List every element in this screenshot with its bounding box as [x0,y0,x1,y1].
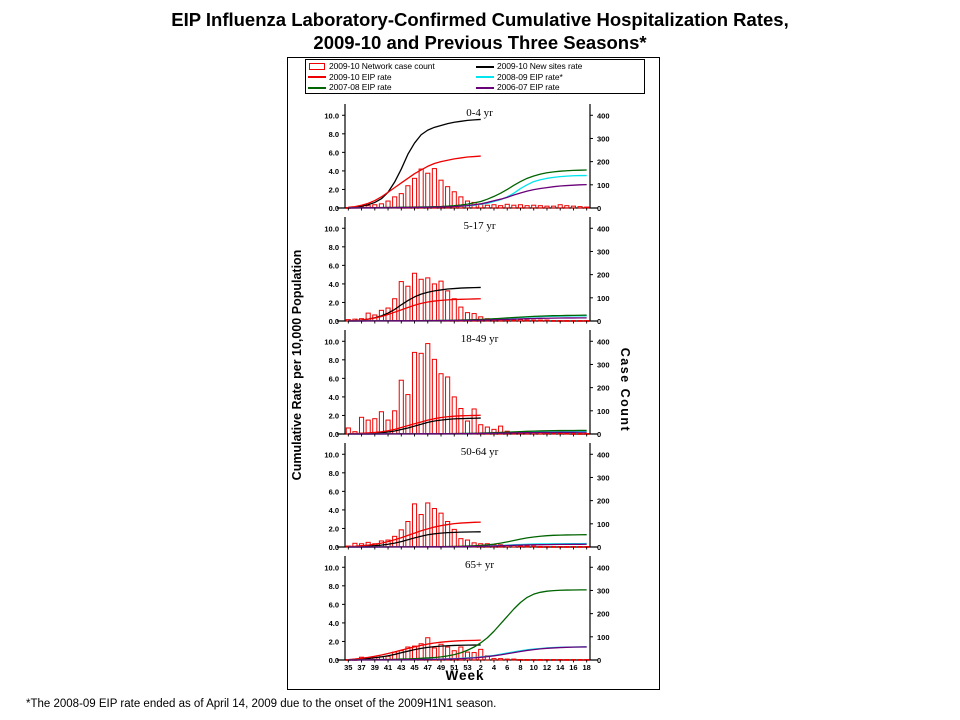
case-count-bar [512,205,516,208]
y-tick-label-right: 400 [597,450,610,459]
case-count-bar [379,412,383,434]
case-count-bar [512,320,516,321]
x-tick-label: 47 [424,663,432,670]
case-count-bar [532,205,536,208]
case-count-bar [419,279,423,321]
x-tick-label: 49 [437,663,445,670]
legend-label: 2009-10 Network case count [329,61,435,71]
y-tick-label-right: 400 [597,337,610,346]
legend-item: 2009-10 EIP rate [308,72,474,83]
case-count-bar [393,536,397,547]
legend-swatch-icon [308,83,326,92]
legend-item: 2007-08 EIP rate [308,82,474,93]
y-tick-label-left: 10.0 [324,450,339,459]
case-count-bar [426,278,430,321]
series-line-2006-07-eip-rate [348,647,586,660]
case-count-bar [578,207,582,208]
y-tick-label-right: 100 [597,633,610,642]
case-count-bar [499,206,503,208]
y-tick-label-right: 200 [597,158,610,167]
x-tick-label: 12 [543,663,551,670]
panel-0-4-yr: 0.02.04.06.08.010.001002003004000-4 yr [300,100,640,218]
case-count-bar [565,321,569,322]
y-tick-label-right: 300 [597,360,610,369]
y-tick-label-right: 400 [597,224,610,233]
panel-plot: 0.02.04.06.08.010.0010020030040065+ yr35… [300,552,640,670]
case-count-bar [412,352,416,434]
y-tick-label-left: 8.0 [329,356,339,365]
x-tick-label: 35 [344,663,352,670]
case-count-bar [412,504,416,547]
case-count-bar [565,206,569,208]
case-count-bar [578,547,582,548]
page-title: EIP Influenza Laboratory-Confirmed Cumul… [0,8,960,54]
case-count-bar [585,207,589,208]
y-tick-label-right: 400 [597,563,610,572]
y-tick-label-left: 8.0 [329,130,339,139]
y-tick-label-left: 6.0 [329,374,339,383]
y-tick-label-right: 200 [597,384,610,393]
y-tick-label-right: 300 [597,473,610,482]
case-count-bar [499,659,503,660]
case-count-bar [545,206,549,208]
case-count-bar [552,547,556,548]
y-tick-label-left: 8.0 [329,582,339,591]
case-count-bar [578,321,582,322]
case-count-bar [552,206,556,208]
case-count-bar [406,286,410,321]
y-tick-label-left: 10.0 [324,111,339,120]
y-tick-label-right: 200 [597,271,610,280]
case-count-bar [538,320,542,321]
legend-item: 2009-10 Network case count [308,61,474,72]
legend-label: 2009-10 EIP rate [329,72,392,82]
y-tick-label-left: 8.0 [329,469,339,478]
y-tick-label-right: 0 [597,204,601,213]
x-axis-label: Week [340,668,590,683]
case-count-bar [565,547,569,548]
case-count-bar [452,299,456,321]
y-tick-label-right: 100 [597,407,610,416]
case-count-bar [406,186,410,208]
y-tick-label-right: 300 [597,586,610,595]
x-tick-label: 43 [397,663,405,670]
x-tick-label: 45 [410,663,418,670]
y-tick-label-left: 6.0 [329,600,339,609]
case-count-bar [439,374,443,434]
case-count-bar [545,433,549,434]
panel-plot: 0.02.04.06.08.010.0010020030040050-64 yr [300,439,640,557]
panel-title: 65+ yr [465,559,494,571]
case-count-bar [518,320,522,321]
y-tick-label-right: 0 [597,543,601,552]
y-tick-label-left: 4.0 [329,619,339,628]
panel-title: 0-4 yr [466,107,493,119]
legend-swatch-icon [476,83,494,92]
legend-label: 2006-07 EIP rate [497,82,560,92]
y-tick-label-right: 300 [597,134,610,143]
case-count-bar [472,653,476,660]
series-line-2009-10-new-sites-rate [348,287,480,320]
panel-50-64-yr: 0.02.04.06.08.010.0010020030040050-64 yr [300,439,640,557]
legend-swatch-icon [476,62,494,71]
y-tick-label-left: 0.0 [329,543,339,552]
case-count-bar [518,205,522,208]
case-count-bar [399,282,403,321]
series-line-2007-08-eip-rate [348,590,586,660]
case-count-bar [459,307,463,321]
legend-label: 2008-09 EIP rate* [497,72,563,82]
y-tick-label-left: 2.0 [329,524,339,533]
y-tick-label-left: 2.0 [329,411,339,420]
case-count-bar [558,205,562,208]
legend-swatch-icon [308,72,326,81]
case-count-bar [505,320,509,321]
y-tick-label-left: 10.0 [324,224,339,233]
case-count-bar [525,206,529,208]
case-count-bar [399,380,403,434]
case-count-bar [538,660,542,661]
x-tick-label: 14 [556,663,565,670]
y-tick-label-right: 300 [597,247,610,256]
case-count-bar [426,173,430,208]
x-tick-label: 4 [492,663,497,670]
case-count-bar [552,321,556,322]
y-tick-label-right: 0 [597,656,601,665]
x-tick-label: 53 [463,663,471,670]
case-count-bar [565,433,569,434]
case-count-bar [439,180,443,208]
panel-title: 5-17 yr [463,220,495,232]
y-tick-label-left: 0.0 [329,317,339,326]
legend-swatch-icon [476,72,494,81]
series-line-2009-10-eip-rate [348,156,480,207]
case-count-bar [518,546,522,547]
case-count-bar [446,647,450,660]
panel-18-49-yr: 0.02.04.06.08.010.0010020030040018-49 yr [300,326,640,444]
case-count-bar [439,513,443,547]
y-tick-label-right: 0 [597,317,601,326]
case-count-bar [571,206,575,208]
y-tick-label-left: 6.0 [329,487,339,496]
legend-item: 2006-07 EIP rate [476,82,642,93]
case-count-bar [578,660,582,661]
case-count-bar [459,409,463,435]
legend-label: 2007-08 EIP rate [329,82,392,92]
y-tick-label-left: 4.0 [329,506,339,515]
panel-title: 18-49 yr [461,333,499,345]
y-tick-label-left: 6.0 [329,261,339,270]
case-count-bar [432,169,436,208]
case-count-bar [426,638,430,660]
x-tick-label: 41 [384,663,392,670]
case-count-bar [505,659,509,660]
case-count-bar [446,377,450,434]
y-tick-label-left: 2.0 [329,298,339,307]
y-tick-label-left: 4.0 [329,280,339,289]
y-tick-label-left: 0.0 [329,204,339,213]
panel-plot: 0.02.04.06.08.010.0010020030040018-49 yr [300,326,640,444]
case-count-bar [366,420,370,434]
legend-swatch-icon [308,62,326,71]
footnote: *The 2008-09 EIP rate ended as of April … [26,698,496,710]
x-tick-label: 2 [479,663,483,670]
case-count-bar [446,187,450,208]
y-tick-label-left: 0.0 [329,430,339,439]
x-tick-label: 6 [505,663,509,670]
case-count-bar [545,320,549,321]
panel-plot: 0.02.04.06.08.010.001002003004005-17 yr [300,213,640,331]
case-count-bar [492,205,496,208]
y-tick-label-right: 200 [597,497,610,506]
y-tick-label-left: 10.0 [324,337,339,346]
y-tick-label-right: 200 [597,610,610,619]
y-tick-label-left: 4.0 [329,393,339,402]
case-count-bar [578,434,582,435]
y-tick-label-left: 8.0 [329,243,339,252]
case-count-bar [532,546,536,547]
legend-label: 2009-10 New sites rate [497,61,582,71]
y-tick-label-right: 100 [597,181,610,190]
x-tick-label: 10 [530,663,538,670]
x-tick-label: 39 [371,663,379,670]
case-count-bar [472,409,476,434]
case-count-bar [525,546,529,547]
case-count-bar [432,284,436,321]
y-tick-label-right: 100 [597,520,610,529]
case-count-bar [412,178,416,208]
case-count-bar [485,205,489,208]
case-count-bar [393,197,397,208]
x-tick-label: 16 [569,663,577,670]
x-tick-label: 51 [450,663,458,670]
y-tick-label-right: 100 [597,294,610,303]
y-tick-label-left: 4.0 [329,167,339,176]
legend-item: 2009-10 New sites rate [476,61,642,72]
case-count-bar [552,660,556,661]
panel-5-17-yr: 0.02.04.06.08.010.001002003004005-17 yr [300,213,640,331]
case-count-bar [492,659,496,660]
panel-65-yr: 0.02.04.06.08.010.0010020030040065+ yr35… [300,552,640,670]
y-tick-label-left: 10.0 [324,563,339,572]
series-line-2009-10-eip-rate [348,299,480,321]
x-tick-label: 8 [518,663,522,670]
case-count-bar [360,417,364,434]
y-tick-label-left: 2.0 [329,637,339,646]
panel-title: 50-64 yr [461,446,499,458]
chart-page: EIP Influenza Laboratory-Confirmed Cumul… [0,0,960,720]
case-count-bar [538,547,542,548]
case-count-bar [552,433,556,434]
y-tick-label-right: 400 [597,111,610,120]
case-count-bar [532,320,536,321]
series-line-2008-09-eip-rate [348,176,586,208]
y-tick-label-left: 6.0 [329,148,339,157]
case-count-bar [399,194,403,208]
x-tick-label: 18 [583,663,591,670]
chart-legend: 2009-10 Network case count2009-10 New si… [305,59,645,94]
case-count-bar [432,359,436,434]
y-tick-label-right: 0 [597,430,601,439]
case-count-bar [558,433,562,434]
case-count-bar [446,291,450,321]
series-line-2009-10-eip-rate [348,522,480,546]
panel-plot: 0.02.04.06.08.010.001002003004000-4 yr [300,100,640,218]
case-count-bar [538,206,542,208]
case-count-bar [512,659,516,660]
series-line-2009-10-new-sites-rate [348,119,480,207]
series-line-2007-08-eip-rate [348,170,586,208]
case-count-bar [465,421,469,434]
case-count-bar [452,397,456,434]
y-tick-label-left: 0.0 [329,656,339,665]
case-count-bar [565,660,569,661]
x-tick-label: 37 [357,663,365,670]
case-count-bar [426,503,430,547]
case-count-bar [525,320,529,321]
y-tick-label-left: 2.0 [329,185,339,194]
case-count-bar [419,169,423,208]
case-count-bar [525,660,529,661]
case-count-bar [479,649,483,660]
legend-item: 2008-09 EIP rate* [476,72,642,83]
